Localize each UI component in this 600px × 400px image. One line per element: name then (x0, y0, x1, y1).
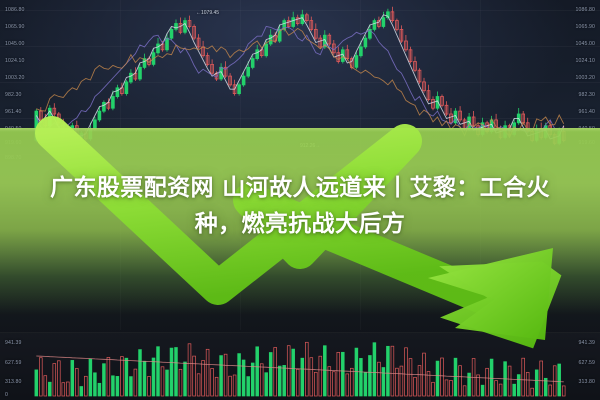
page-title: 广东股票配资网 山河故人远道来丨艾黎：工合火 种，燃亮抗战大后方 (0, 170, 600, 242)
screenshot-root: ←1079.45 912.26→ 1086.80 1065.90 1045.00… (0, 0, 600, 400)
headline-line-1: 广东股票配资网 山河故人远道来丨艾黎：工合火 (0, 170, 600, 206)
headline-line-2: 种，燃亮抗战大后方 (0, 206, 600, 242)
